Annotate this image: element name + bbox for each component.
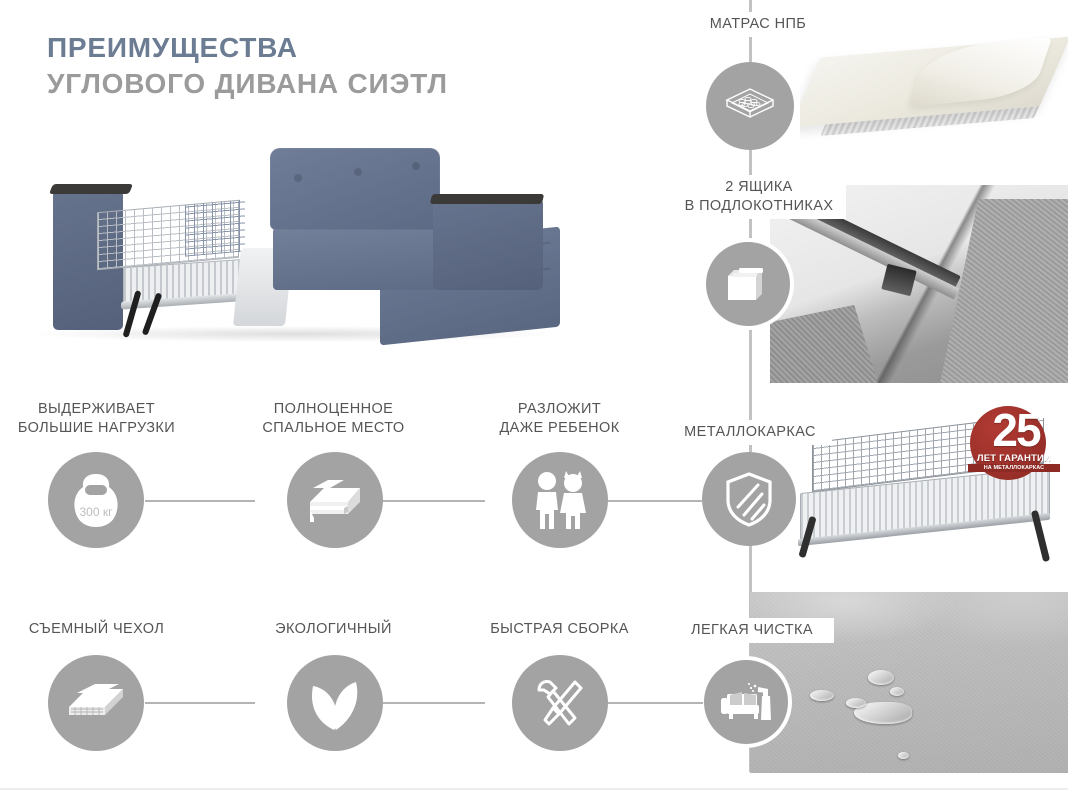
sofa-frame-mesh-dark	[185, 199, 245, 256]
label-removable-cover: СЪЕМНЫЙ ЧЕХОЛ	[0, 620, 193, 639]
guarantee-badge-number: 25	[972, 404, 1060, 456]
connector-line	[145, 702, 255, 704]
removable-cover-icon[interactable]	[48, 655, 144, 751]
hammer-screwdriver-icon[interactable]	[512, 655, 608, 751]
page-title-line2: УГЛОВОГО ДИВАНА СИЭТЛ	[47, 66, 448, 102]
guarantee-badge: 25 ЛЕТ ГАРАНТИИ НА МЕТАЛЛОКАРКАС	[968, 406, 1060, 480]
removable-cover-glyph	[65, 681, 127, 725]
hammer-screwdriver-glyph	[531, 674, 589, 732]
bed-icon[interactable]	[287, 452, 383, 548]
sofa-left-armrest-top	[49, 184, 133, 194]
label-eco-friendly: ЭКОЛОГИЧНЫЙ	[237, 620, 430, 639]
label-metal-frame: МЕТАЛЛОКАРКАС	[668, 420, 832, 445]
label-fast-assembly: БЫСТРАЯ СБОРКА	[463, 620, 656, 639]
sofa-spray-clean-icon[interactable]	[700, 656, 792, 748]
guarantee-badge-line2: НА МЕТАЛЛОКАРКАС	[968, 464, 1060, 472]
kettlebell-weight-text: 300 кг	[80, 505, 114, 519]
sofa-right-armrest-top	[430, 194, 544, 204]
connector-line	[375, 500, 485, 502]
label-easy-unfold: РАЗЛОЖИТ ДАЖЕ РЕБЕНОК	[463, 400, 656, 438]
shield-icon[interactable]	[702, 452, 796, 546]
infographic-canvas: ПРЕИМУЩЕСТВА УГЛОВОГО ДИВАНА СИЭТЛ МАТРА…	[0, 0, 1068, 801]
connector-line	[603, 702, 703, 704]
drawer-photo-fabric-left	[770, 305, 878, 383]
water-drop	[890, 687, 904, 696]
label-heavy-load: ВЫДЕРЖИВАЕТ БОЛЬШИЕ НАГРУЗКИ	[0, 400, 193, 438]
connector-line	[603, 500, 703, 502]
sofa-back-cushion	[270, 148, 440, 230]
water-drop	[868, 670, 894, 685]
bed-glyph	[304, 476, 366, 524]
water-drop	[846, 698, 866, 708]
label-mattress: МАТРАС НПБ	[688, 12, 828, 37]
drawer-photo-lid-inner	[787, 207, 959, 299]
water-drop	[810, 690, 834, 701]
two-children-glyph	[531, 469, 589, 531]
footer-divider	[0, 788, 1068, 790]
kettlebell-icon[interactable]: 300 кг	[48, 452, 144, 548]
guarantee-badge-line1: ЛЕТ ГАРАНТИИ	[968, 453, 1060, 464]
drawer-photo-fabric-right	[940, 199, 1068, 383]
label-sleeping-place: ПОЛНОЦЕННОЕ СПАЛЬНОЕ МЕСТО	[237, 400, 430, 438]
two-children-icon[interactable]	[512, 452, 608, 548]
shield-glyph	[725, 471, 773, 527]
sofa-right-armrest	[433, 198, 543, 290]
storage-drawer-icon[interactable]	[702, 238, 794, 330]
page-title: ПРЕИМУЩЕСТВА УГЛОВОГО ДИВАНА СИЭТЛ	[47, 30, 448, 102]
storage-drawer-glyph	[722, 262, 774, 306]
connector-line	[145, 500, 255, 502]
label-easy-cleaning: ЛЕГКАЯ ЧИСТКА	[670, 618, 834, 643]
mattress-springs-icon[interactable]	[706, 62, 794, 150]
kettlebell-glyph: 300 кг	[69, 469, 123, 531]
label-drawers: 2 ЯЩИКА В ПОДЛОКОТНИКАХ	[672, 175, 846, 219]
connector-line	[375, 702, 485, 704]
hero-sofa-image	[25, 140, 570, 355]
sofa-spray-glyph	[718, 680, 774, 724]
mattress-springs-glyph	[724, 84, 776, 128]
leaf-glyph	[307, 672, 363, 734]
water-drop	[898, 752, 909, 759]
leaf-icon[interactable]	[287, 655, 383, 751]
mattress-cutaway-photo	[800, 25, 1068, 155]
page-title-line1: ПРЕИМУЩЕСТВА	[47, 30, 448, 66]
